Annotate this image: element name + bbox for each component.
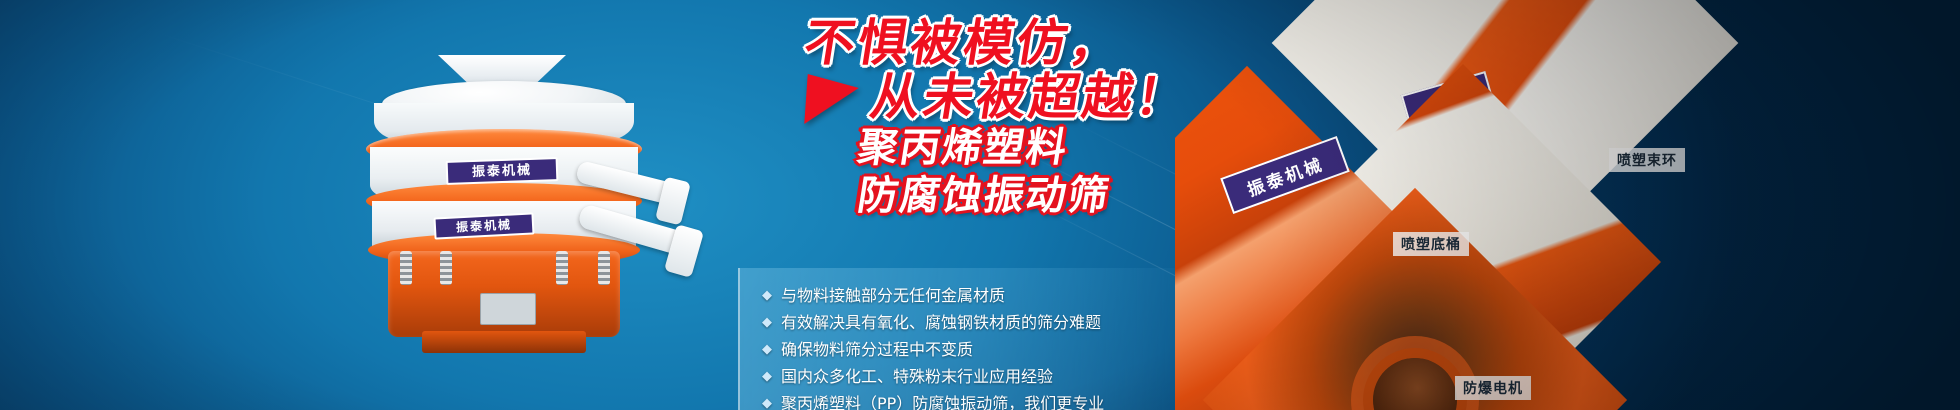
- promo-banner: 振泰机械 振泰机械 不惧被模仿， 从未被超越！ 聚丙烯塑料 防腐蚀振动筛 ◆ 与…: [0, 0, 1960, 410]
- vignette-overlay: [0, 0, 1960, 410]
